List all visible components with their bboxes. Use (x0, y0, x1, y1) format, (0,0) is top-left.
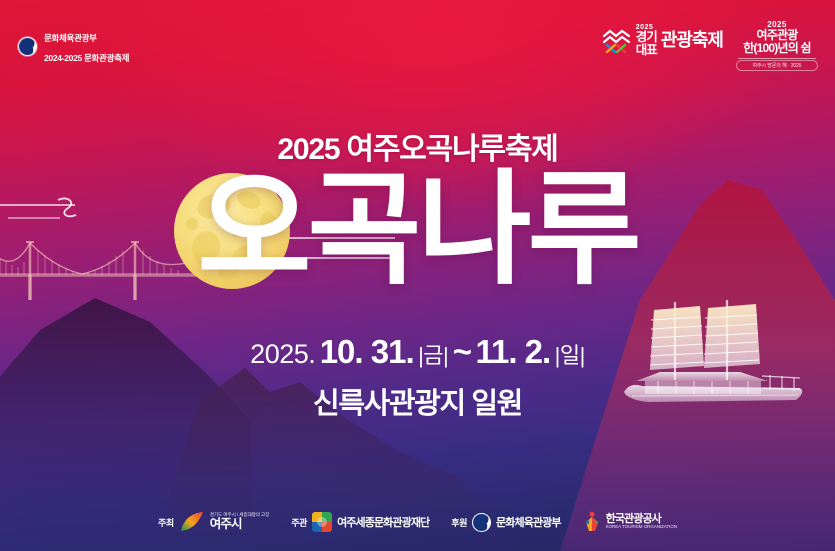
sponsor-support-kto: 한국관광공사 KOREA TOURISM ORGANIZATION (583, 511, 677, 533)
ministry-name: 문화체육관광부 (44, 33, 97, 43)
date-start-day: |금| (418, 343, 448, 368)
sponsor-organizer-name: 여주세종문화관광재단 (337, 514, 429, 530)
ministry-festival-period: 2024-2025 문화관광축제 (44, 53, 129, 63)
yeoju-badge-divider (738, 58, 816, 59)
poster-header: 문화체육관광부 2024-2025 문화관광축제 (0, 0, 835, 78)
date-end-day: |일| (555, 343, 585, 368)
gyeonggi-tourism-badge: 2025 경기 대표 관광축제 (602, 24, 723, 56)
sponsor-host: 주최 경기도 여주시 / 세종대왕의 고장 여주시 (158, 511, 269, 533)
sponsor-mcst-name: 문화체육관광부 (496, 514, 561, 530)
gyeonggi-badge-headline: 관광축제 (661, 31, 723, 49)
gyeonggi-badge-line2: 대표 (636, 44, 657, 57)
gyeonggi-badge-line1: 경기 (636, 31, 657, 44)
kto-logo-icon (583, 511, 601, 533)
date-start: 10. 31. (320, 333, 414, 370)
yeoju-badge-line2: 한(100)년의 쉼 (729, 42, 825, 55)
yeoju-badge-sub: 여주시 방문의 해 · 2025 (736, 60, 818, 71)
sponsor-kto-text: 한국관광공사 KOREA TOURISM ORGANIZATION (606, 514, 677, 530)
festival-poster: 문화체육관광부 2024-2025 문화관광축제 (0, 0, 835, 551)
yeoju-sejong-foundation-logo-icon (312, 512, 332, 532)
sponsor-host-name: 여주시 (210, 518, 270, 531)
gyeonggi-badge-headline-wrap: 관광축제 (661, 31, 723, 49)
sponsor-organizer: 주관 여주세종문화관광재단 (291, 512, 429, 532)
date-year: 2025. (250, 339, 315, 369)
yeoju-city-logo-icon (179, 511, 205, 533)
date-tilde: ~ (453, 333, 471, 370)
mcst-taegeuk-logo-icon (472, 513, 491, 532)
date-end: 11. 2. (475, 333, 550, 370)
sponsor-host-text: 경기도 여주시 / 세종대왕의 고장 여주시 (210, 513, 270, 531)
sponsor-support-mcst: 후원 문화체육관광부 (451, 513, 560, 532)
sponsor-role-host: 주최 (158, 516, 174, 529)
gyeonggi-badge-text: 2025 경기 대표 (636, 24, 657, 56)
sponsor-footer: 주최 경기도 여주시 / 세종대왕의 고장 여주시 주관 (0, 501, 835, 543)
sponsor-role-organizer: 주관 (291, 516, 307, 529)
festival-date: 2025. 10. 31. |금| ~ 11. 2. |일| (0, 333, 835, 371)
sponsor-role-support: 후원 (451, 516, 467, 529)
festival-title: 오곡나루 (0, 168, 835, 292)
yeoju-tourism-badge: 2025 여주관광 한(100)년의 쉼 여주시 방문의 해 · 2025 (729, 20, 825, 71)
taegeuk-icon (18, 37, 37, 56)
sponsor-kto-tiny: KOREA TOURISM ORGANIZATION (606, 525, 677, 530)
ministry-logo: 문화체육관광부 2024-2025 문화관광축제 (18, 27, 129, 66)
ministry-logo-text: 문화체육관광부 2024-2025 문화관광축제 (44, 27, 129, 66)
gyeonggi-tourism-mark-icon (602, 27, 632, 53)
festival-venue: 신륵사관광지 일원 (0, 380, 835, 422)
